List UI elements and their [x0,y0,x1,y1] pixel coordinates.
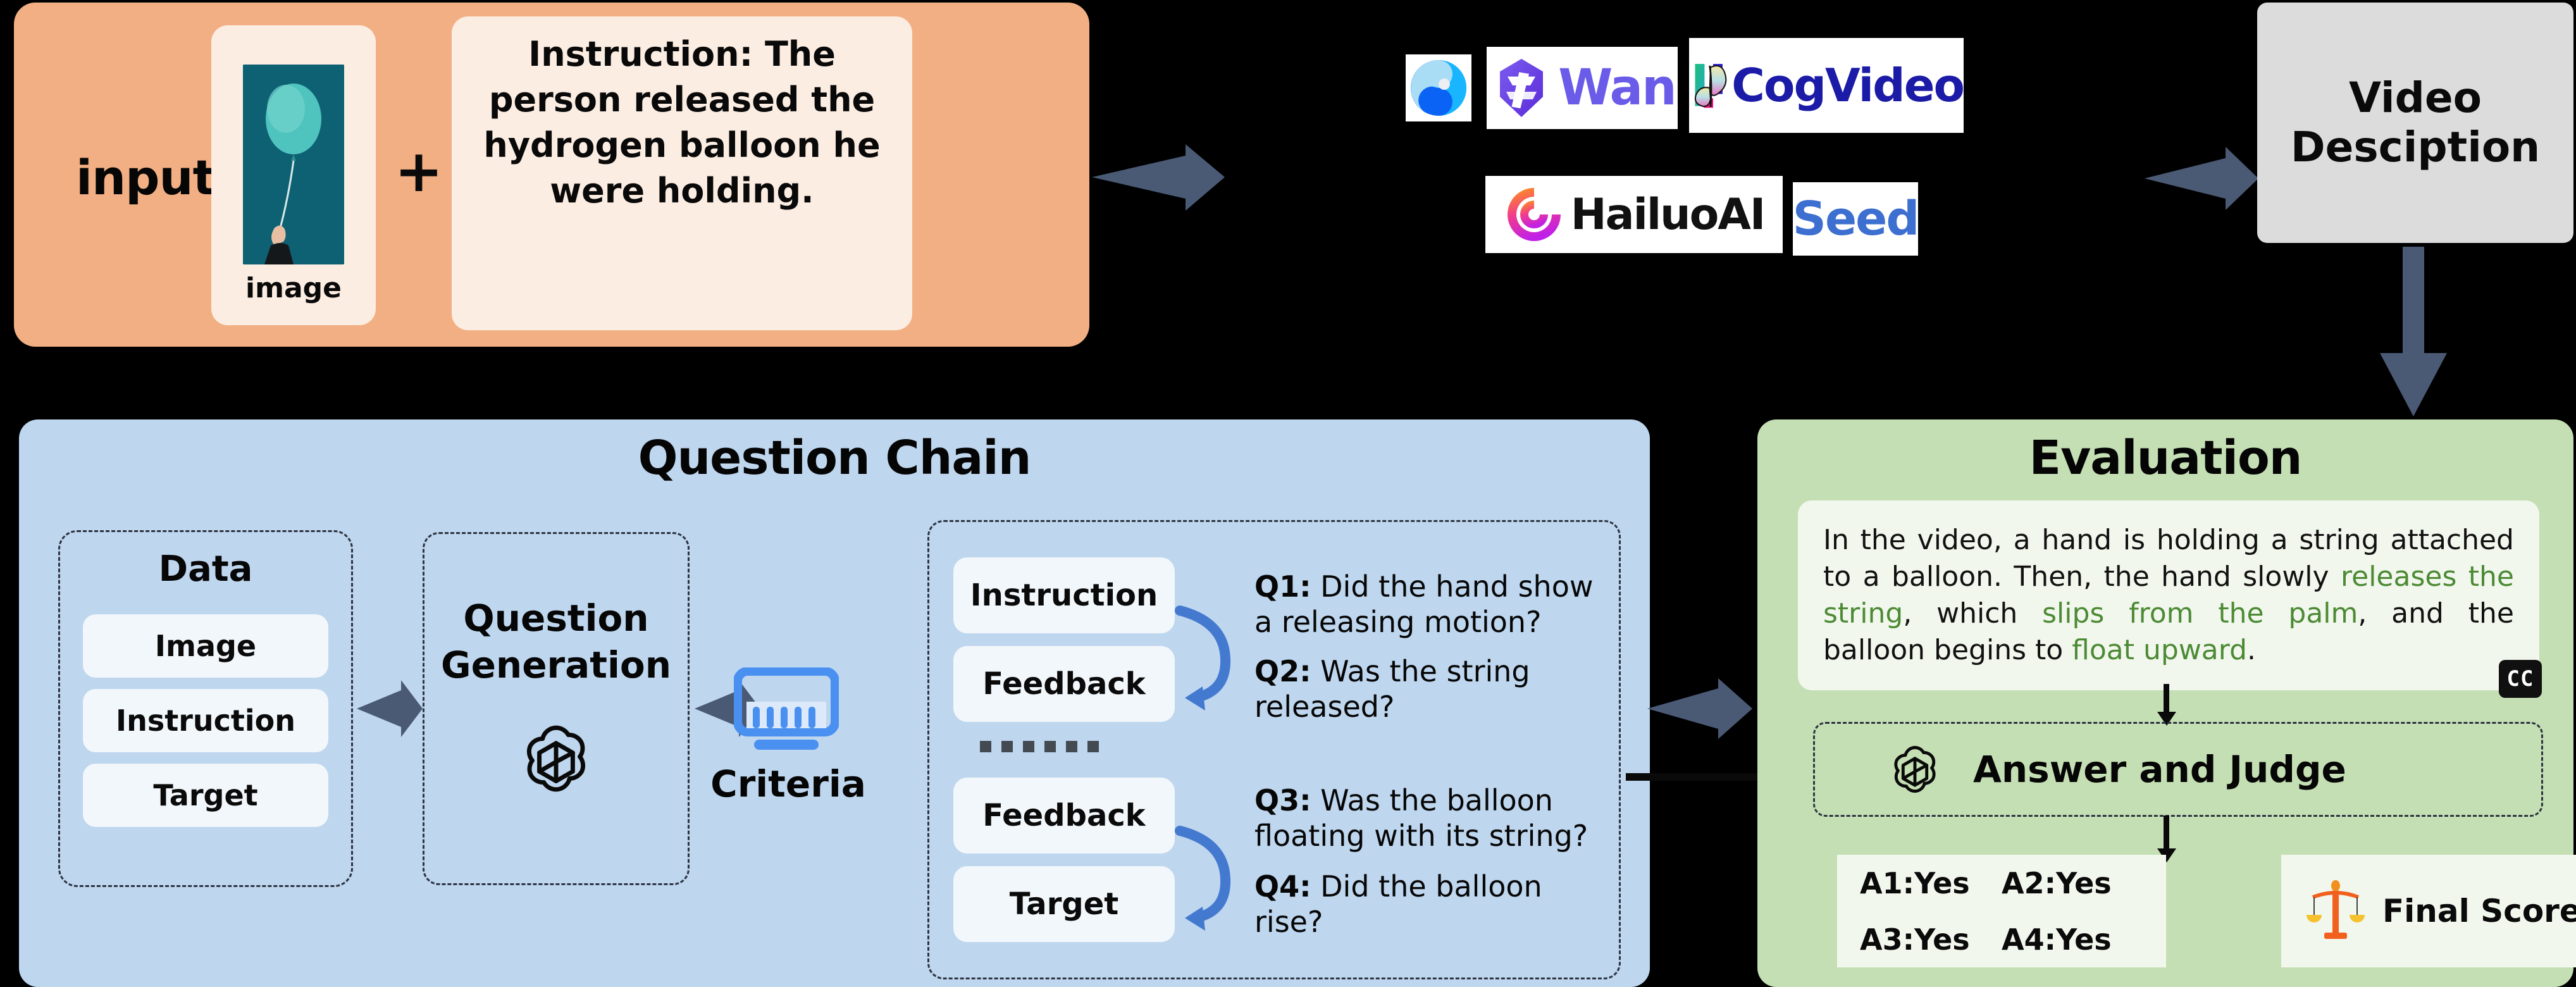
answer-3: A3:Yes [1860,914,2002,965]
video-description-title: Video Desciption [2291,73,2540,172]
final-score-label: Final Score [2382,893,2576,929]
openai-logo-icon [1886,740,1944,798]
openai-logo-svg [1886,740,1944,798]
wan-logo-text: Wan [1558,59,1675,116]
ruler-icon [734,667,839,756]
ellipsis-dot [1023,741,1034,752]
caption-seg-4: . [2247,634,2256,666]
balloon-photo-svg [243,65,344,264]
ellipsis-dot [1001,741,1013,752]
caption-seg-2: , which [1903,597,2042,630]
seed-logo-text: Seed [1793,192,1919,246]
final-score-card: Final Score [2281,855,2576,967]
video-description-line2: Desciption [2291,123,2540,171]
input-label: input [63,149,228,206]
answer-and-judge-label: Answer and Judge [1973,748,2346,791]
openai-logo-svg [515,717,597,800]
video-caption-card: In the video, a hand is holding a string… [1798,500,2539,690]
data-box-title: Data [60,549,351,590]
question-chain-title: Question Chain [19,431,1650,485]
chain-loop-arrow-2-svg [1170,822,1246,936]
wan-logo: Wan [1487,47,1678,129]
arrow-question-chain-to-evaluation [1647,678,1752,739]
chain-pill-target: Target [953,866,1175,942]
question-2: Q2: Was the string released? [1254,654,1609,724]
image-card: image [211,25,376,325]
arrow-data-to-question-generation [357,680,423,737]
balance-scale-icon-svg [2307,879,2365,943]
evaluation-title: Evaluation [1757,431,2573,485]
hailuoai-logo: HailuoAI [1485,176,1783,253]
question-generation-line2: Generation [441,643,671,686]
evaluation-panel: Evaluation In the video, a hand is holdi… [1757,419,2573,987]
answer-4: A4:Yes [2002,914,2143,965]
chain-loop-arrow-2 [1170,822,1246,938]
ruler-icon-svg [734,667,839,756]
question-3: Q3: Was the balloon floating with its st… [1254,783,1609,854]
instruction-text: Instruction: The person released the hyd… [452,16,912,214]
plus-sign: + [393,143,444,200]
caption-highlight-3: float upward [2072,634,2247,666]
chain-loop-arrow-1 [1170,602,1246,718]
hailuoai-logo-text: HailuoAI [1571,190,1764,240]
cogvideo-logo-text: CogVideo [1731,59,1964,112]
arrow-caption-to-judge-svg [2156,684,2177,726]
cogvideo-logo: CogVideo [1689,38,1964,133]
hunyuan-logo-icon [1409,59,1468,117]
chain-pill-feedback-2: Feedback [953,778,1175,854]
wan-mark-icon [1489,55,1554,121]
arrow-models-to-video-description [2145,147,2258,210]
ellipsis-dot [980,741,991,752]
hailuo-spiral-icon [1504,184,1564,245]
openai-logo-icon [515,717,597,800]
image-caption: image [211,272,376,304]
instruction-card: Instruction: The person released the hyd… [452,16,912,330]
answers-card: A1:Yes A2:Yes A3:Yes A4:Yes [1837,855,2166,967]
butterfly-icon [1689,50,1730,121]
ellipsis-dots [980,741,1144,754]
chain-pill-instruction: Instruction [953,557,1175,633]
diagram-canvas: input image + Instruction: The person re… [0,0,2576,987]
question-2-id: Q2: [1254,654,1311,688]
caption-highlight-2: slips from the palm [2042,597,2358,630]
data-pill-target: Target [83,764,328,827]
video-description-box: Video Desciption [2257,3,2573,243]
ellipsis-dot [1087,741,1099,752]
question-1-id: Q1: [1254,569,1311,604]
question-4: Q4: Did the balloon rise? [1254,869,1609,940]
data-box: Data Image Instruction Target [58,530,353,887]
closed-caption-icon: CC [2499,660,2542,698]
chain-pill-feedback-1: Feedback [953,646,1175,722]
hunyuan-logo [1406,54,1471,121]
seed-logo: Seed [1793,182,1918,256]
ellipsis-dot [1044,741,1056,752]
video-description-line1: Video [2349,73,2482,122]
answer-2: A2:Yes [2002,857,2143,909]
video-caption-text: In the video, a hand is holding a string… [1798,500,2539,669]
question-list-box: Instruction Feedback Feedback Target Q1:… [927,520,1621,979]
question-generation-line1: Question [463,597,648,640]
balance-scale-icon [2307,879,2365,943]
criteria-label: Criteria [674,762,902,805]
answer-and-judge-box: Answer and Judge [1813,722,2543,817]
chain-loop-arrow-1-svg [1170,602,1246,716]
arrow-input-to-models [1092,144,1225,211]
ellipsis-dot [1066,741,1077,752]
instruction-prefix: Instruction: [528,34,753,74]
question-1: Q1: Did the hand show a releasing motion… [1254,569,1609,640]
question-4-id: Q4: [1254,869,1311,903]
data-pill-instruction: Instruction [83,689,328,752]
balloon-photo [243,65,344,264]
data-pill-image: Image [83,614,328,678]
question-generation-label: Question Generation [424,595,688,688]
arrow-video-description-to-evaluation [2379,247,2448,416]
question-3-id: Q3: [1254,783,1311,817]
answer-1: A1:Yes [1860,857,2002,909]
question-generation-box: Question Generation [423,532,690,885]
input-panel: input image + Instruction: The person re… [14,3,1089,347]
